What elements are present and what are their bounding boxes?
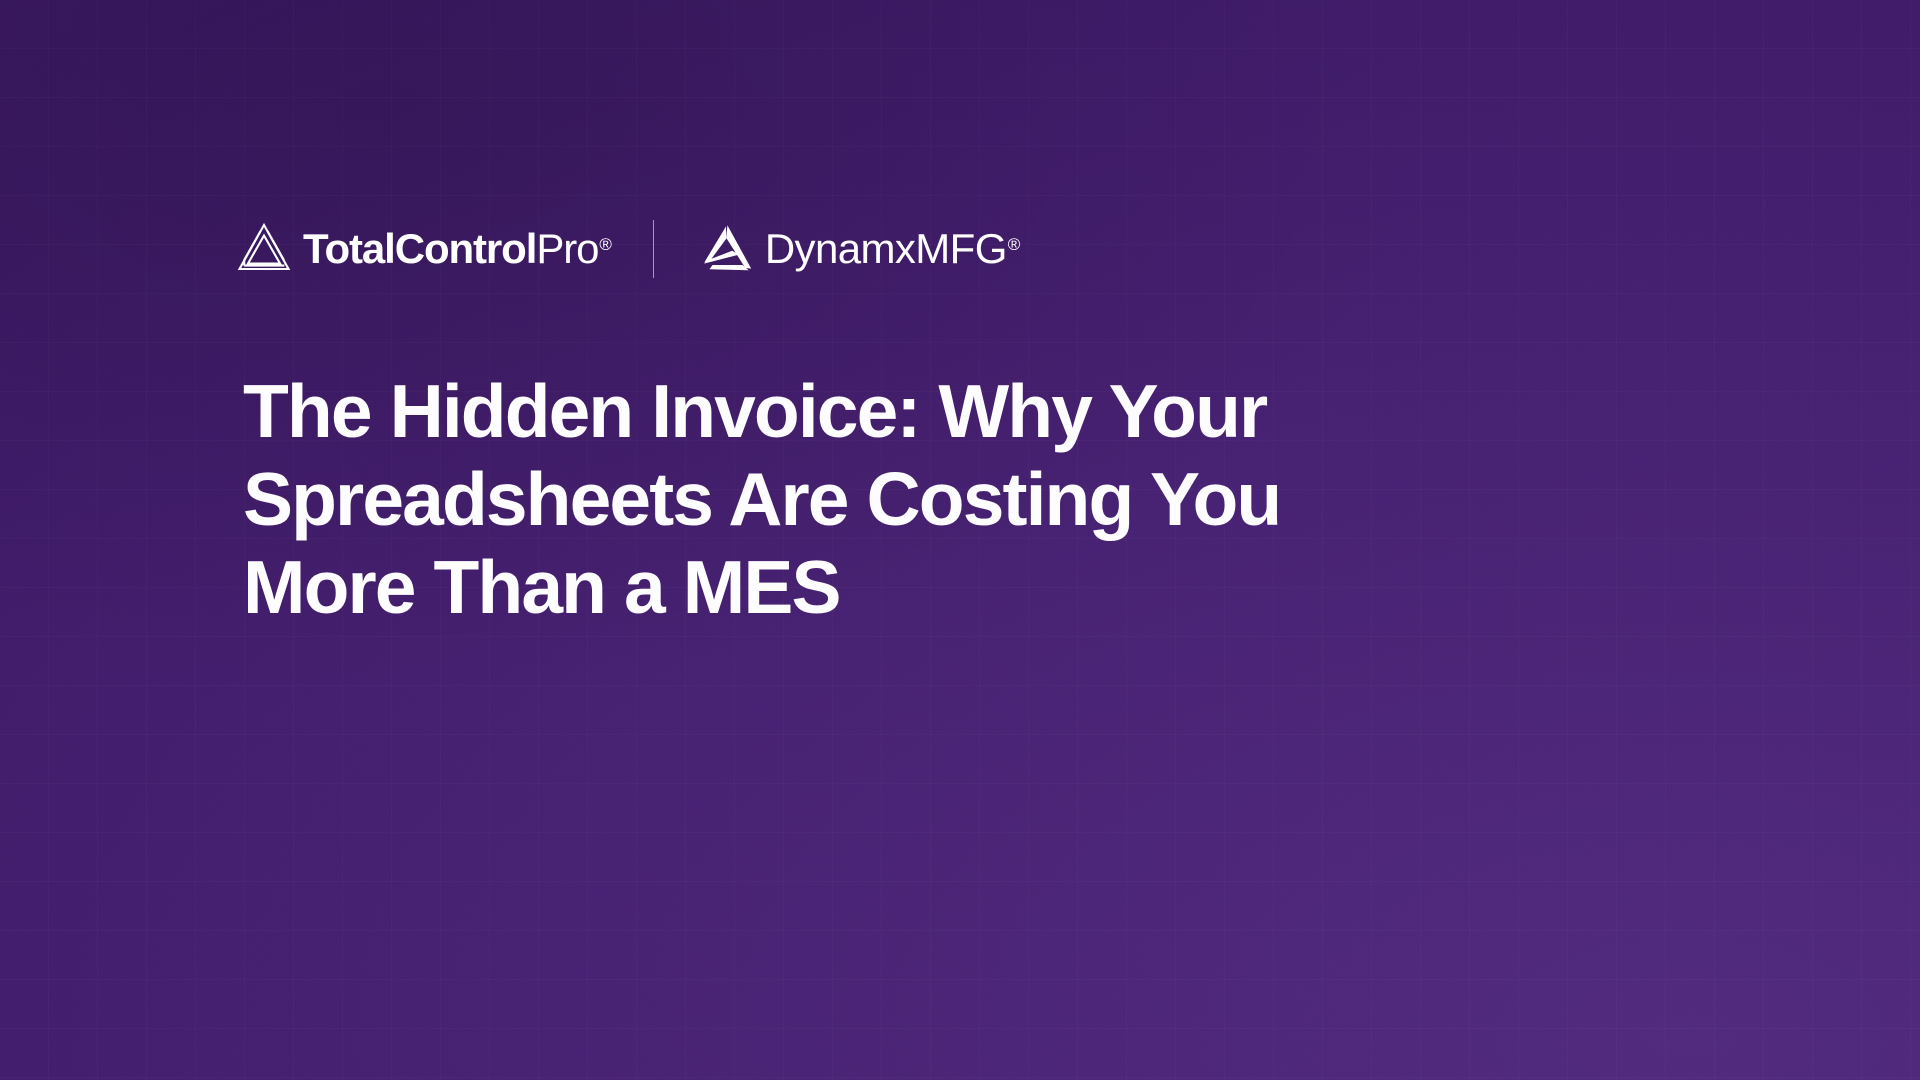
title-line: The Hidden Invoice: Why Your (243, 368, 1493, 456)
page-title: The Hidden Invoice: Why Your Spreadsheet… (243, 368, 1493, 631)
slide-content: TotalControlPro® DynamxMFG® The Hidden I… (0, 0, 1920, 1080)
brand-name-light: Pro (536, 228, 598, 270)
brand-totalcontrolpro: TotalControlPro® (237, 220, 611, 278)
brand-name-bold: TotalControl (303, 228, 536, 270)
dynamx-arrow-triangle-icon (698, 224, 752, 274)
penrose-triangle-icon (237, 222, 291, 276)
brand-dynamxmfg: DynamxMFG® (698, 220, 1020, 278)
title-line: Spreadsheets Are Costing You (243, 456, 1493, 544)
registered-trademark-symbol: ® (1008, 236, 1020, 253)
logo-divider (653, 220, 654, 278)
title-line: More Than a MES (243, 544, 1493, 632)
logo-lockup: TotalControlPro® DynamxMFG® (237, 220, 1020, 278)
totalcontrolpro-wordmark: TotalControlPro® (303, 228, 611, 270)
registered-trademark-symbol: ® (599, 236, 610, 253)
dynamxmfg-wordmark: DynamxMFG® (765, 228, 1020, 270)
brand-name: DynamxMFG (765, 228, 1007, 270)
